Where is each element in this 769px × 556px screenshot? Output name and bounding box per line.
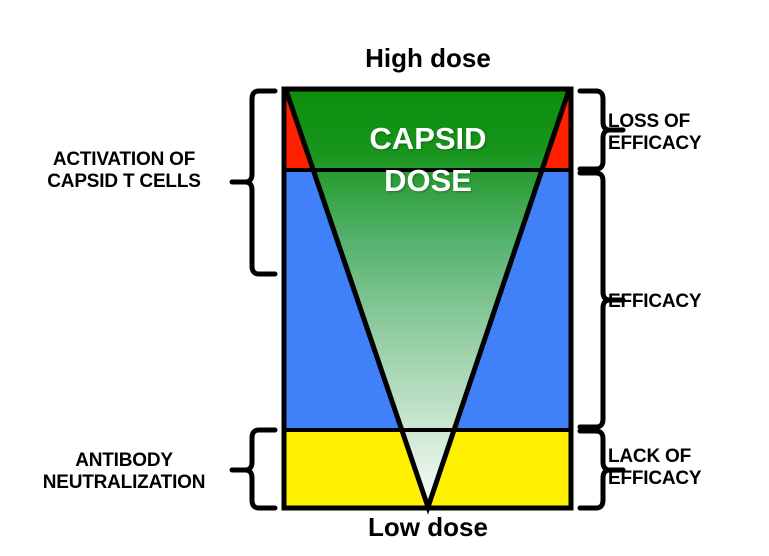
efficacy-label: EFFICACY: [608, 291, 764, 313]
lack-of-efficacy-label: LACK OF EFFICACY: [608, 446, 764, 491]
low-dose-label: Low dose: [283, 512, 573, 543]
capsid-dose-label: CAPSID DOSE: [283, 118, 573, 202]
activation-of-capsid-t-cells-label: ACTIVATION OF CAPSID T CELLS: [8, 149, 240, 194]
loss-of-efficacy-label: LOSS OF EFFICACY: [608, 111, 764, 156]
high-dose-label: High dose: [283, 43, 573, 74]
antibody-neutralization-label: ANTIBODY NEUTRALIZATION: [8, 450, 240, 495]
